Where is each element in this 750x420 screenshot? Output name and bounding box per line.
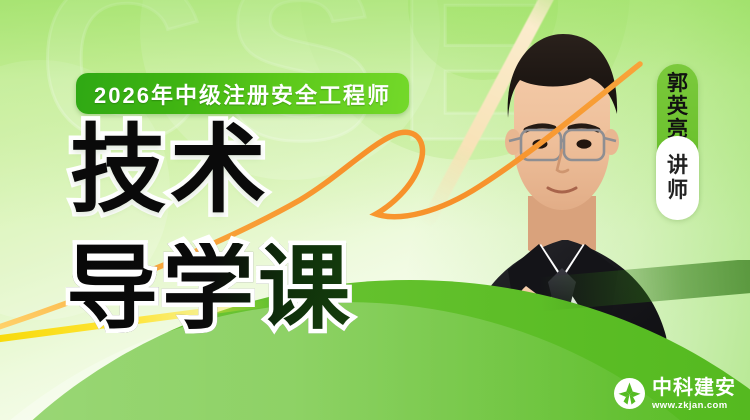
brand-logo[interactable]: 中科建安 www.zkjan.com — [614, 378, 736, 411]
band-dark-edge — [539, 260, 750, 311]
brand-logo-text: 中科建安 www.zkjan.com — [652, 378, 736, 411]
course-subtitle-badge: 2026年中级注册安全工程师 — [76, 73, 409, 114]
course-subtitle-text: 2026年中级注册安全工程师 — [94, 78, 391, 110]
star-logo-icon — [614, 378, 645, 409]
brand-url: www.zkjan.com — [652, 401, 736, 411]
course-title-line-1: 技术 — [70, 123, 270, 219]
instructor-name-char: 郭 — [667, 72, 688, 95]
instructor-name-char: 英 — [667, 95, 688, 118]
instructor-role-char: 讲 — [667, 153, 688, 178]
course-title-line-2: 导学课 — [66, 243, 354, 335]
instructor-role-char: 师 — [667, 178, 688, 203]
instructor-role-chip: 讲 师 — [656, 136, 699, 220]
instructor-name-chars: 郭 英 亮 — [657, 72, 698, 141]
course-poster: CSE — [0, 0, 750, 420]
brand-name: 中科建安 — [652, 378, 736, 398]
